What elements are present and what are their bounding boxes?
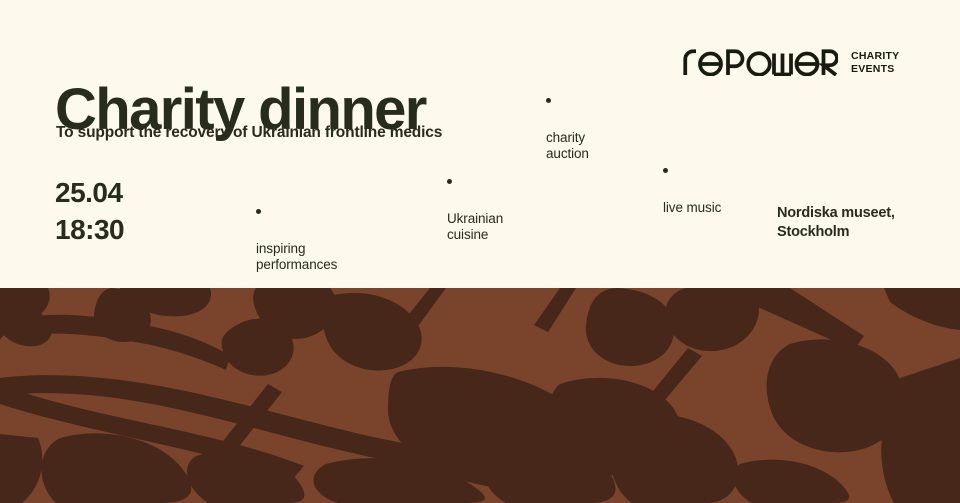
- feature-inspiring-performances: inspiring performances: [256, 193, 337, 273]
- logo-tagline: CHARITY EVENTS: [851, 49, 899, 76]
- botanical-photo-band: [0, 288, 960, 503]
- feature-label: live music: [663, 200, 721, 215]
- feature-label: Ukrainian cuisine: [447, 211, 503, 242]
- feature-label: charity auction: [546, 130, 589, 161]
- poster-canvas: Charity dinner To support the recovery o…: [0, 0, 960, 503]
- event-time: 18:30: [55, 212, 124, 249]
- brand-logo-lockup: CHARITY EVENTS: [683, 49, 899, 76]
- bullet-dot-icon: [546, 98, 551, 103]
- repower-wordmark-icon: [683, 49, 838, 76]
- bullet-dot-icon: [663, 168, 668, 173]
- feature-live-music: live music: [663, 152, 721, 216]
- date-time-block: 25.04 18:30: [55, 175, 124, 249]
- feature-ukrainian-cuisine: Ukrainian cuisine: [447, 163, 503, 243]
- venue-location: Nordiska museet, Stockholm: [777, 204, 895, 243]
- event-date: 25.04: [55, 175, 124, 212]
- header-panel: Charity dinner To support the recovery o…: [0, 0, 960, 288]
- bullet-dot-icon: [256, 209, 261, 214]
- bullet-dot-icon: [447, 179, 452, 184]
- feature-label: inspiring performances: [256, 241, 337, 272]
- subtitle: To support the recovery of Ukrainian fro…: [56, 124, 442, 142]
- feature-charity-auction: charity auction: [546, 82, 589, 162]
